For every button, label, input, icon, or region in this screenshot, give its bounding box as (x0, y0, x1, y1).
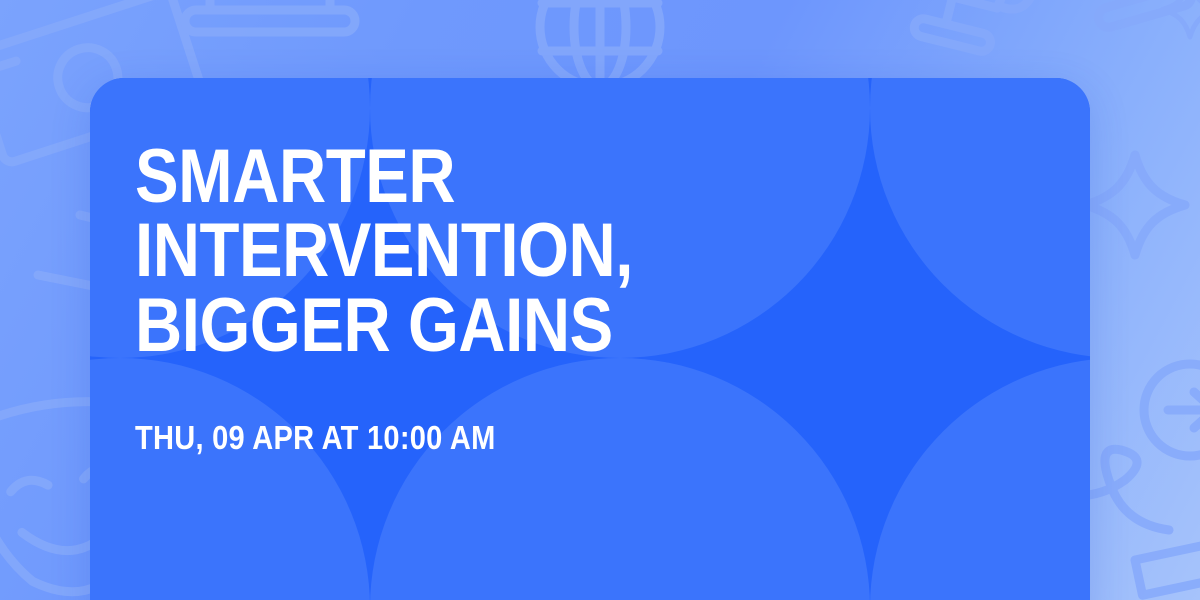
ticket-icon (1135, 533, 1200, 595)
laptop-icon (185, 0, 355, 32)
arrow-circle-icon (1144, 364, 1200, 456)
event-card[interactable]: Smarter Intervention, Bigger Gains Thu, … (90, 78, 1090, 600)
page-title: Smarter Intervention, Bigger Gains (135, 140, 905, 363)
event-datetime: Thu, 09 Apr at 10:00 AM (135, 421, 923, 454)
trophy-icon (885, 0, 1041, 60)
card-content: Smarter Intervention, Bigger Gains Thu, … (135, 140, 1030, 454)
globe-icon (540, 0, 660, 87)
sparkle-icon (1085, 155, 1185, 255)
